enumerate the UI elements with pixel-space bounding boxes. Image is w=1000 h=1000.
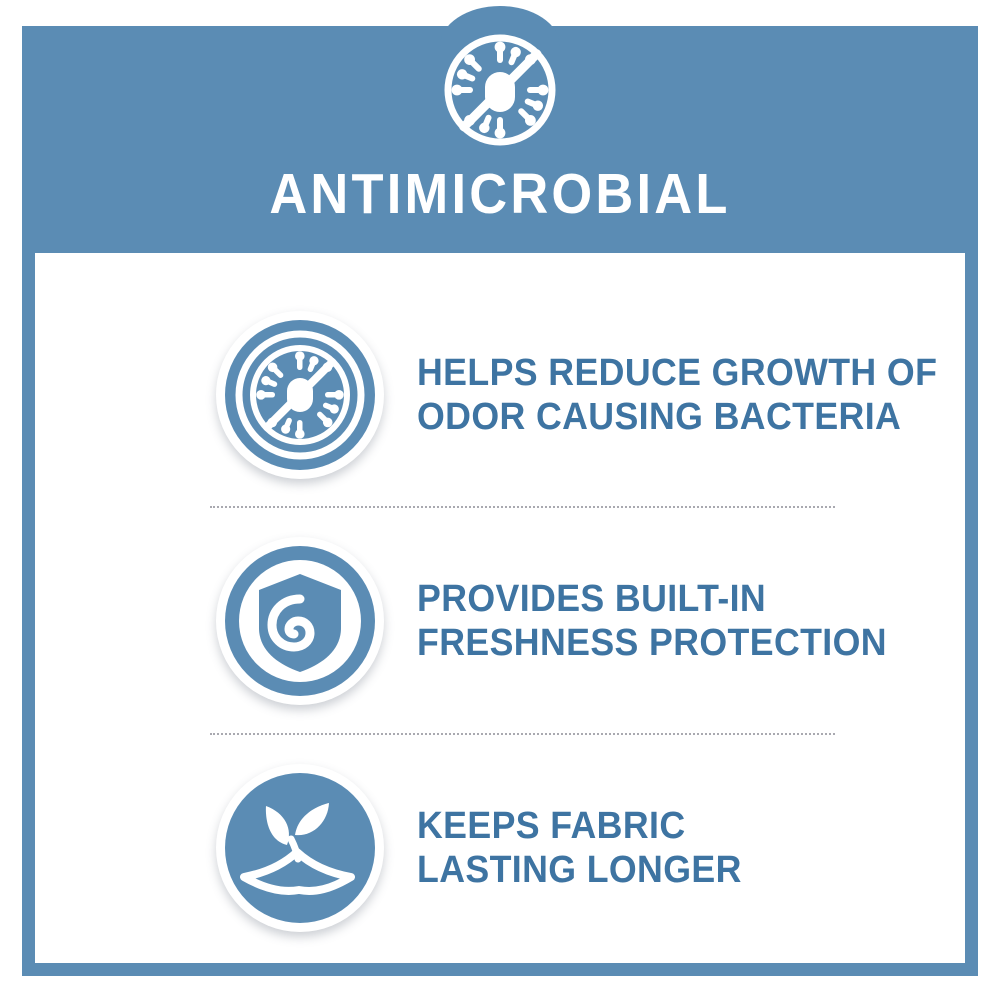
list-item: KEEPS FABRIC LASTING LONGER (35, 748, 965, 948)
divider (210, 733, 835, 735)
feature-label: KEEPS FABRIC LASTING LONGER (417, 804, 742, 893)
sprout-leaves-icon (225, 773, 375, 923)
list-item: HELPS REDUCE GROWTH OF ODOR CAUSING BACT… (35, 295, 965, 495)
header: ANTIMICROBIAL (22, 26, 978, 253)
feature-icon-wrapper (205, 764, 395, 932)
icon-badge (216, 311, 384, 479)
no-germ-circle-icon (225, 320, 375, 470)
blue-frame: ANTIMICROBIAL (22, 26, 978, 976)
icon-badge (216, 537, 384, 705)
page-title: ANTIMICROBIAL (60, 166, 940, 223)
list-item: PROVIDES BUILT-IN FRESHNESS PROTECTION (35, 521, 965, 721)
feature-list: HELPS REDUCE GROWTH OF ODOR CAUSING BACT… (35, 253, 965, 963)
feature-label-line2: ODOR CAUSING BACTERIA (417, 395, 937, 439)
feature-icon-wrapper (205, 311, 395, 479)
feature-label-line1: HELPS REDUCE GROWTH OF (417, 351, 937, 395)
feature-icon-wrapper (205, 537, 395, 705)
content-panel: HELPS REDUCE GROWTH OF ODOR CAUSING BACT… (35, 253, 965, 963)
shield-swirl-icon (225, 546, 375, 696)
antimicrobial-infographic: ANTIMICROBIAL (0, 0, 1000, 1000)
icon-badge (216, 764, 384, 932)
no-germ-icon (430, 20, 570, 160)
divider (210, 506, 835, 508)
feature-label-line1: PROVIDES BUILT-IN (417, 577, 887, 621)
feature-label-line1: KEEPS FABRIC (417, 804, 742, 848)
feature-label-line2: FRESHNESS PROTECTION (417, 621, 887, 665)
feature-label: HELPS REDUCE GROWTH OF ODOR CAUSING BACT… (417, 351, 937, 440)
feature-label-line2: LASTING LONGER (417, 848, 742, 892)
feature-label: PROVIDES BUILT-IN FRESHNESS PROTECTION (417, 577, 887, 666)
